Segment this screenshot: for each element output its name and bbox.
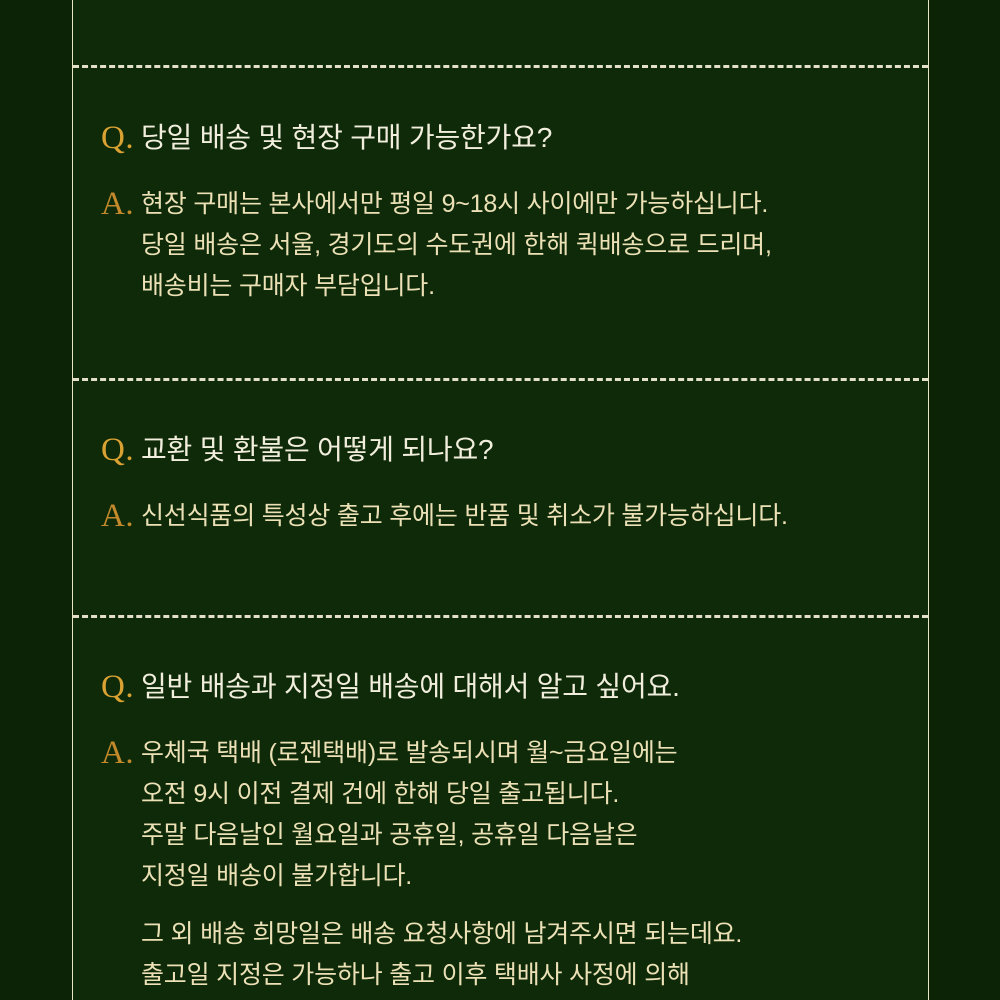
divider-bottom bbox=[73, 615, 928, 618]
answer-line: 오전 9시 이전 결제 건에 한해 당일 출고됩니다. bbox=[141, 774, 912, 815]
faq-answer-row-2: A. 신선식품의 특성상 출고 후에는 반품 및 취소가 불가능하십니다. bbox=[101, 496, 912, 537]
faq-answer-text-3: 우체국 택배 (로젠택배)로 발송되시며 월~금요일에는 오전 9시 이전 결제… bbox=[141, 733, 912, 996]
faq-item-3[interactable]: Q. 일반 배송과 지정일 배송에 대해서 알고 싶어요. A. 우체국 택배 … bbox=[73, 667, 928, 996]
faq-question-text-1: 당일 배송 및 현장 구매 가능한가요? bbox=[141, 118, 912, 158]
answer-label-icon: A. bbox=[101, 733, 141, 773]
faq-question-text-3: 일반 배송과 지정일 배송에 대해서 알고 싶어요. bbox=[141, 667, 912, 707]
faq-content-panel: Q. 당일 배송 및 현장 구매 가능한가요? A. 현장 구매는 본사에서만 … bbox=[72, 0, 929, 1000]
faq-page: Q. 당일 배송 및 현장 구매 가능한가요? A. 현장 구매는 본사에서만 … bbox=[0, 0, 1000, 1000]
answer-label-icon: A. bbox=[101, 496, 141, 536]
paragraph-gap bbox=[141, 897, 912, 914]
answer-line: 우체국 택배 (로젠택배)로 발송되시며 월~금요일에는 bbox=[141, 733, 912, 774]
faq-answer-text-1: 현장 구매는 본사에서만 평일 9~18시 사이에만 가능하십니다. 당일 배송… bbox=[141, 184, 912, 307]
answer-line: 출고일 지정은 가능하나 출고 이후 택배사 사정에 의해 bbox=[141, 955, 912, 996]
answer-label-icon: A. bbox=[101, 184, 141, 224]
answer-line: 그 외 배송 희망일은 배송 요청사항에 남겨주시면 되는데요. bbox=[141, 914, 912, 955]
faq-question-row-2[interactable]: Q. 교환 및 환불은 어떻게 되나요? bbox=[101, 430, 912, 470]
answer-line: 신선식품의 특성상 출고 후에는 반품 및 취소가 불가능하십니다. bbox=[141, 496, 912, 537]
faq-answer-row-1: A. 현장 구매는 본사에서만 평일 9~18시 사이에만 가능하십니다. 당일… bbox=[101, 184, 912, 307]
faq-question-text-2: 교환 및 환불은 어떻게 되나요? bbox=[141, 430, 912, 470]
faq-question-row-3[interactable]: Q. 일반 배송과 지정일 배송에 대해서 알고 싶어요. bbox=[101, 667, 912, 707]
faq-item-2[interactable]: Q. 교환 및 환불은 어떻게 되나요? A. 신선식품의 특성상 출고 후에는… bbox=[73, 430, 928, 537]
answer-line: 현장 구매는 본사에서만 평일 9~18시 사이에만 가능하십니다. bbox=[141, 184, 912, 225]
faq-answer-row-3: A. 우체국 택배 (로젠택배)로 발송되시며 월~금요일에는 오전 9시 이전… bbox=[101, 733, 912, 996]
faq-item-1[interactable]: Q. 당일 배송 및 현장 구매 가능한가요? A. 현장 구매는 본사에서만 … bbox=[73, 118, 928, 307]
answer-line: 지정일 배송이 불가합니다. bbox=[141, 856, 912, 897]
question-label-icon: Q. bbox=[101, 118, 141, 158]
answer-line: 주말 다음날인 월요일과 공휴일, 공휴일 다음날은 bbox=[141, 815, 912, 856]
answer-line: 배송비는 구매자 부담입니다. bbox=[141, 266, 912, 307]
divider-middle bbox=[73, 378, 928, 381]
faq-answer-text-2: 신선식품의 특성상 출고 후에는 반품 및 취소가 불가능하십니다. bbox=[141, 496, 912, 537]
divider-top bbox=[73, 65, 928, 68]
question-label-icon: Q. bbox=[101, 667, 141, 707]
answer-line: 당일 배송은 서울, 경기도의 수도권에 한해 퀵배송으로 드리며, bbox=[141, 225, 912, 266]
faq-question-row-1[interactable]: Q. 당일 배송 및 현장 구매 가능한가요? bbox=[101, 118, 912, 158]
question-label-icon: Q. bbox=[101, 430, 141, 470]
